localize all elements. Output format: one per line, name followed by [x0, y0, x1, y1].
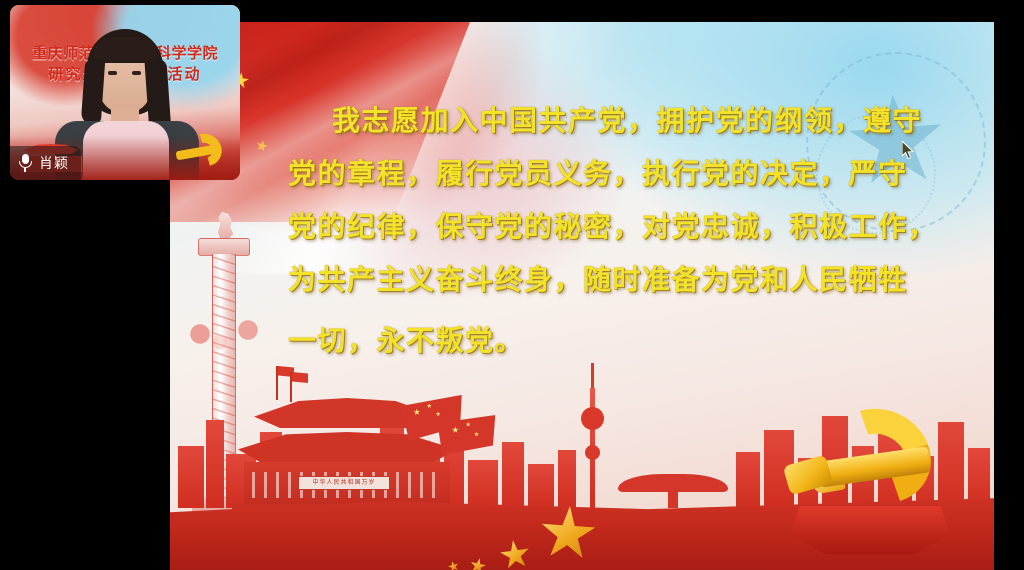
- oath-line-3: 党的纪律，保守党的秘密，对党忠诚，积极工作，: [288, 200, 978, 253]
- video-conference-window: 中华人民共和国万岁: [0, 0, 1024, 570]
- participant-name-chip: 肖颖: [10, 146, 81, 180]
- tiananmen-gate-icon: 中华人民共和国万岁: [232, 392, 462, 522]
- stadium-base: [668, 490, 678, 508]
- oath-line-4: 为共产主义奋斗终身，随时准备为党和人民牺牲: [288, 253, 978, 306]
- microphone-icon[interactable]: [18, 154, 32, 172]
- gate-plaque: 中华人民共和国万岁: [298, 476, 390, 490]
- hammer-and-sickle-icon: [776, 404, 966, 554]
- gate-plaque-text: 中华人民共和国万岁: [299, 477, 389, 489]
- party-oath-text: 我志愿加入中国共产党，拥护党的纲领，遵守 党的章程，履行党员义务，执行党的决定，…: [288, 94, 978, 367]
- huabiao-cloud-wing: [186, 308, 262, 364]
- oath-line-5: 一切，永不叛党。: [288, 314, 978, 367]
- mini-hammer-sickle-icon: [174, 132, 228, 172]
- oriental-pearl-sphere-lower: [585, 445, 600, 460]
- mouse-pointer-icon: [902, 141, 915, 160]
- participant-name-label: 肖颖: [39, 153, 69, 173]
- emblem-pedestal: [790, 506, 950, 554]
- oriental-pearl-sphere-upper: [581, 407, 604, 430]
- participant-video-tile[interactable]: 重庆师范大学教育科学学院 研究生三党支部活动: [10, 5, 240, 180]
- oath-line-1: 我志愿加入中国共产党，拥护党的纲领，遵守: [288, 94, 978, 147]
- huabiao-beast: [214, 212, 236, 240]
- oath-line-2: 党的章程，履行党员义务，执行党的决定，严守: [288, 147, 978, 200]
- shared-screen-presentation[interactable]: 中华人民共和国万岁: [170, 22, 994, 570]
